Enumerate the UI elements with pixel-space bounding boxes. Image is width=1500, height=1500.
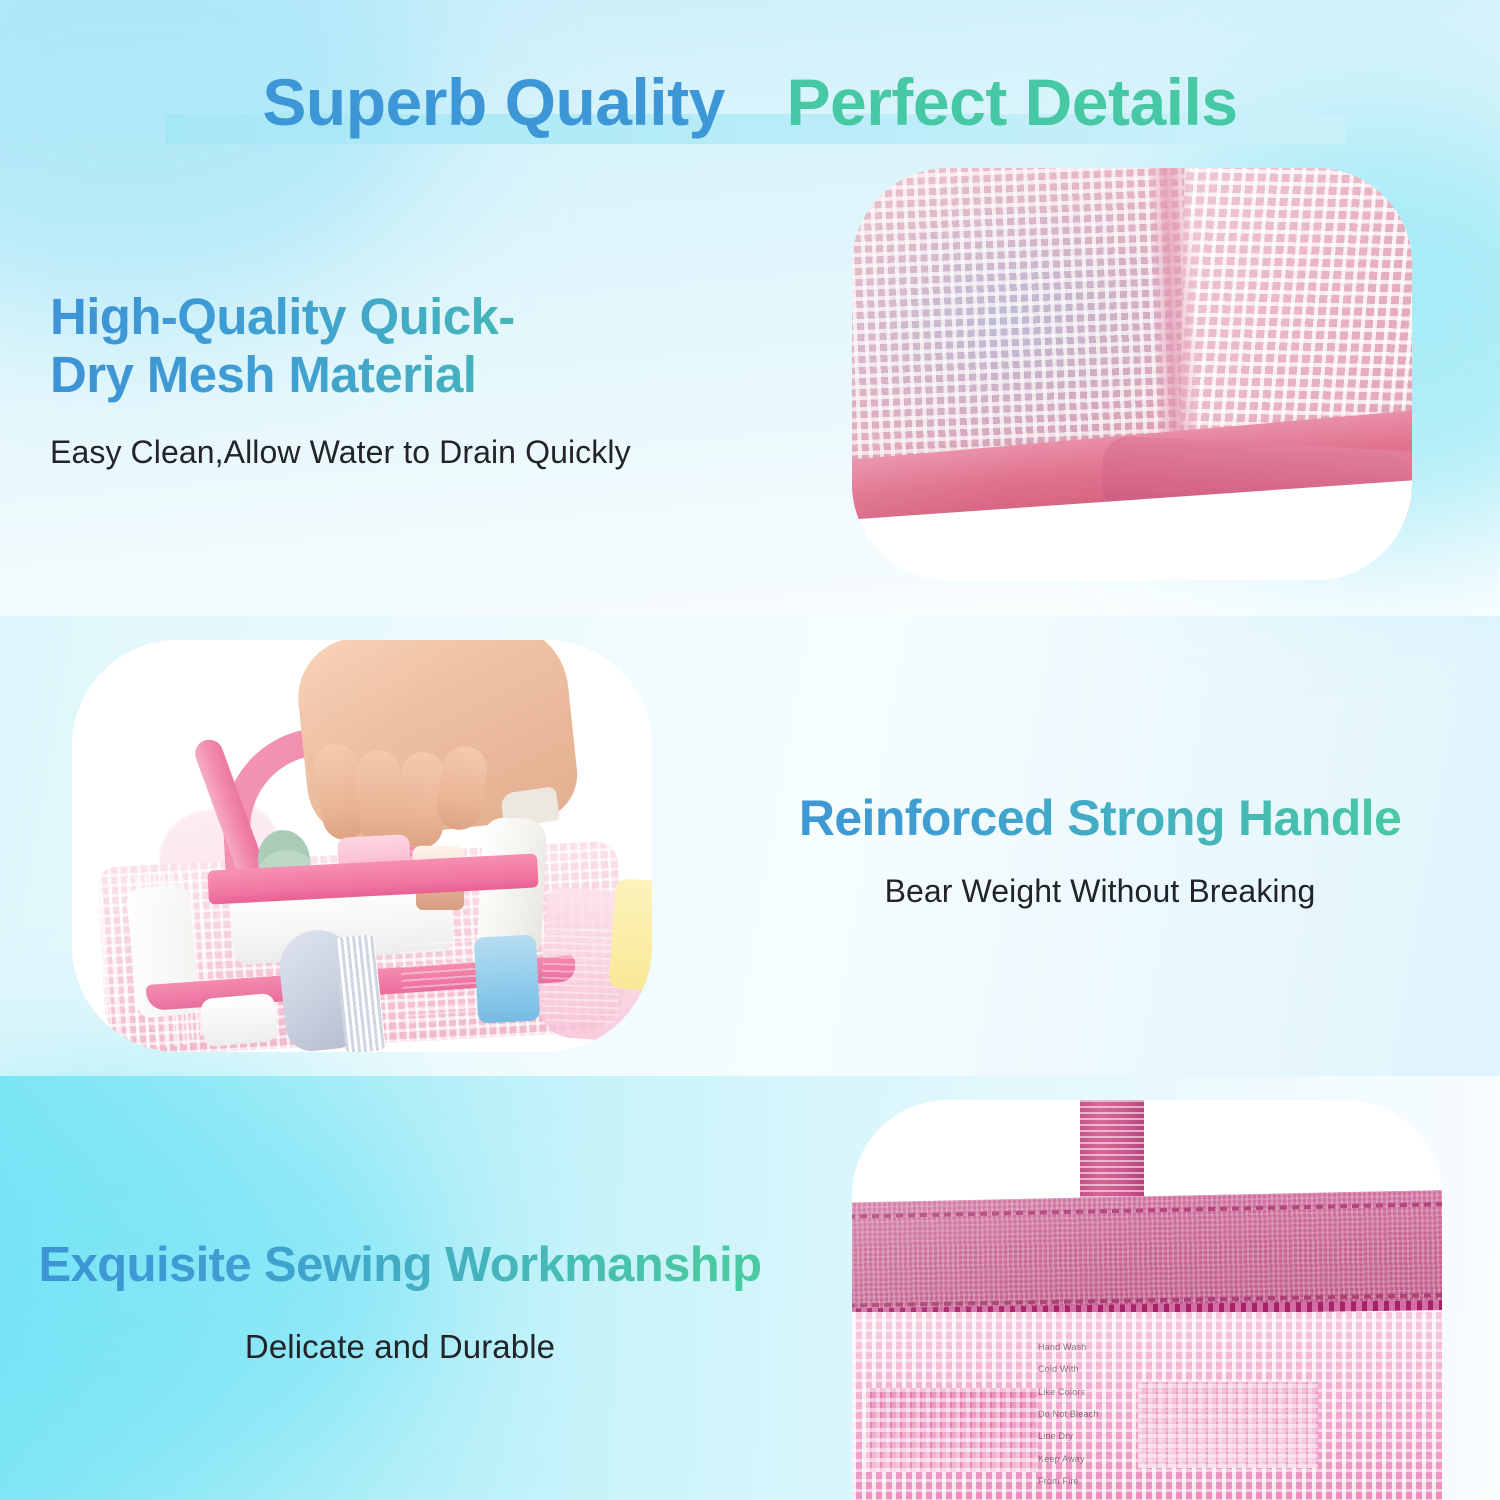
care-label-line-6: Keep Away <box>1038 1454 1158 1464</box>
infographic-page: Superb Quality Perfect Details High-Qual… <box>0 0 1500 1500</box>
section-heading-sewing-workmanship: Exquisite Sewing Workmanship <box>0 1238 800 1294</box>
photo-hand-holding-caddy <box>72 640 652 1052</box>
page-title-part-1: Superb Quality <box>262 65 724 139</box>
section-heading-strong-handle: Reinforced Strong Handle <box>700 790 1500 847</box>
photo-mesh-closeup <box>852 168 1412 580</box>
photo-sewing-closeup: Hand Wash Cold With Like Colors Do Not B… <box>852 1100 1442 1500</box>
care-label-line-1: Hand Wash <box>1038 1342 1158 1352</box>
yellow-towel-secondary <box>608 878 652 992</box>
product-photo-strong-handle <box>72 640 652 1052</box>
section-heading-mesh-material: High-Quality Quick- Dry Mesh Material <box>50 288 770 404</box>
white-container <box>200 993 278 1047</box>
section-text-strong-handle: Reinforced Strong Handle Bear Weight Wit… <box>700 790 1500 910</box>
care-label-line-4: Do Not Bleach <box>1038 1409 1158 1419</box>
page-title: Superb Quality Perfect Details <box>0 64 1500 140</box>
mesh-pocket-left <box>866 1388 1038 1472</box>
care-label-line-2: Cold With <box>1038 1364 1158 1374</box>
finger-middle <box>355 749 406 848</box>
section-subheading-mesh-material: Easy Clean,Allow Water to Drain Quickly <box>50 434 770 471</box>
care-label: Hand Wash Cold With Like Colors Do Not B… <box>1038 1342 1158 1500</box>
care-label-line-5: Line Dry <box>1038 1431 1158 1441</box>
blue-towel-secondary <box>474 934 540 1023</box>
mesh-pocket-right <box>1138 1382 1318 1468</box>
page-title-part-2: Perfect Details <box>787 65 1238 139</box>
product-photo-mesh-material <box>852 168 1412 580</box>
section-subheading-strong-handle: Bear Weight Without Breaking <box>700 873 1500 910</box>
care-label-line-7: From Fire <box>1038 1476 1158 1486</box>
section-heading-line-2: Dry Mesh Material <box>50 346 476 403</box>
header: Superb Quality Perfect Details <box>0 30 1500 140</box>
section-text-sewing-workmanship: Exquisite Sewing Workmanship Delicate an… <box>0 1238 800 1366</box>
care-label-line-3: Like Colors <box>1038 1387 1158 1397</box>
section-heading-line-1: High-Quality Quick- <box>50 288 515 345</box>
section-text-mesh-material: High-Quality Quick- Dry Mesh Material Ea… <box>50 288 770 471</box>
section-subheading-sewing-workmanship: Delicate and Durable <box>0 1328 800 1366</box>
product-photo-sewing-workmanship: Hand Wash Cold With Like Colors Do Not B… <box>852 1100 1442 1500</box>
